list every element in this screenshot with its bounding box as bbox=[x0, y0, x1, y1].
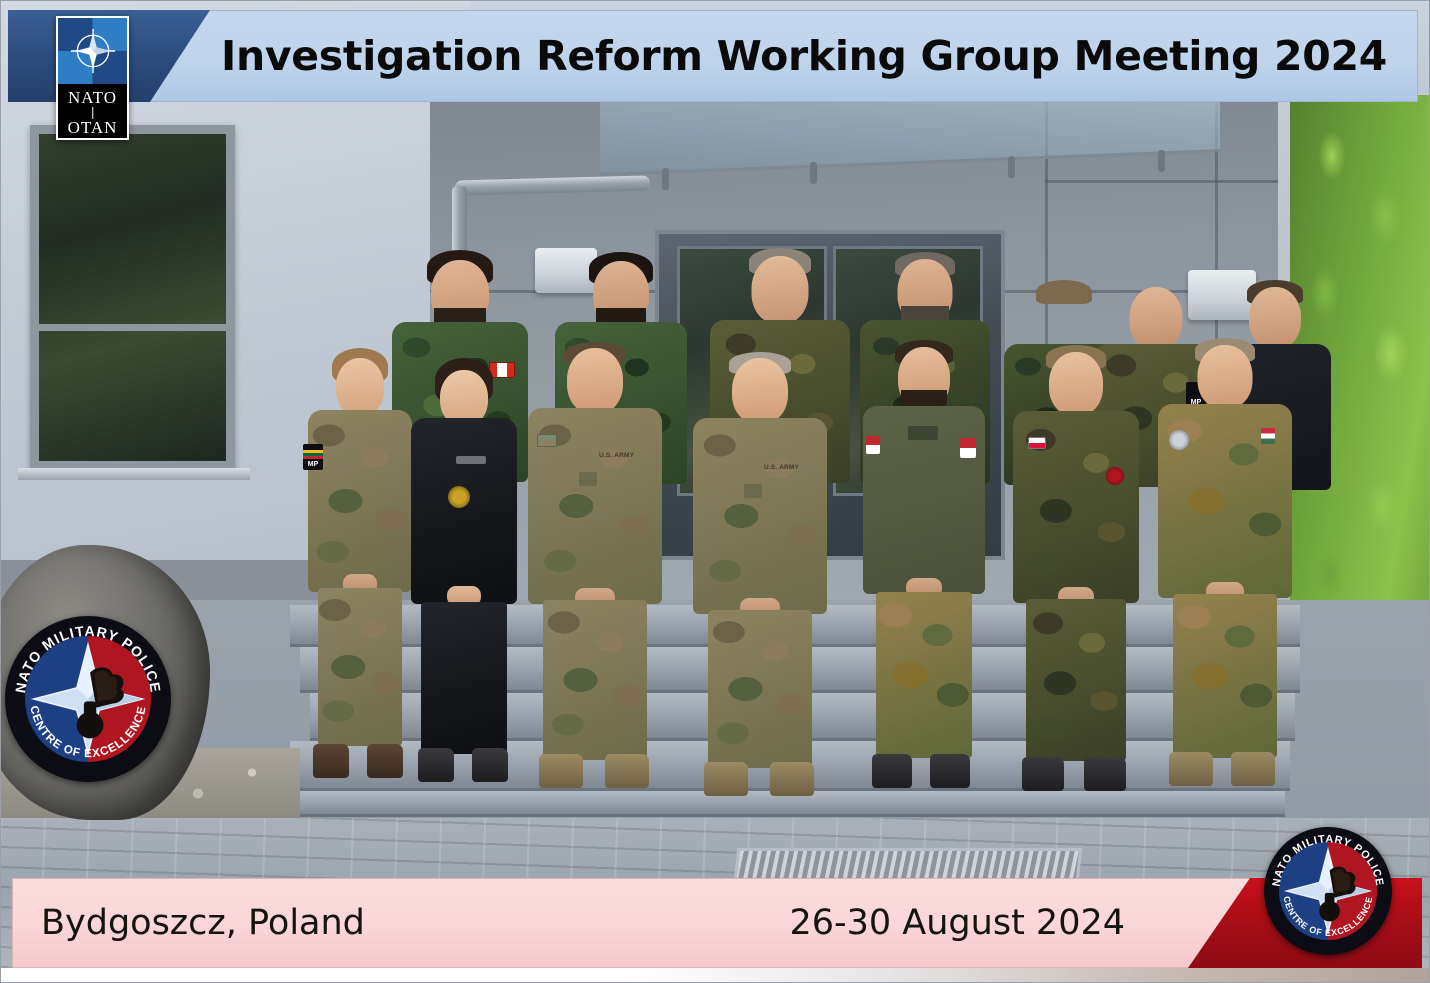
rank-insignia bbox=[744, 484, 762, 498]
nato-otan-emblem: NATO OTAN bbox=[56, 16, 129, 140]
canopy-bracket bbox=[1158, 150, 1165, 172]
svg-text:CENTRE OF EXCELLENCE: CENTRE OF EXCELLENCE bbox=[27, 705, 148, 761]
footer-banner: Bydgoszcz, Poland 26-30 August 2024 bbox=[12, 878, 1250, 968]
person-front-7 bbox=[1155, 338, 1295, 790]
unit-patch bbox=[1169, 430, 1189, 450]
crest-ring-text: NATO MILITARY POLICE CENTRE OF EXCELLENC… bbox=[1264, 827, 1392, 955]
service-tape: U.S. ARMY bbox=[599, 452, 634, 459]
group-photograph: MP MP bbox=[0, 0, 1430, 968]
person-front-5 bbox=[860, 340, 988, 790]
navy-nametape bbox=[456, 456, 486, 464]
person-front-3: U.S. ARMY bbox=[525, 342, 665, 787]
monument-nato-mp-coe-crest-icon: NATO MILITARY POLICE CENTRE OF EXCELLENC… bbox=[5, 616, 171, 782]
footer-nato-mp-coe-crest-icon: NATO MILITARY POLICE CENTRE OF EXCELLENC… bbox=[1264, 827, 1392, 955]
header-banner: Investigation Reform Working Group Meeti… bbox=[150, 10, 1418, 102]
svg-text:NATO MILITARY POLICE: NATO MILITARY POLICE bbox=[1270, 833, 1385, 887]
crest-ring-text: NATO MILITARY POLICE CENTRE OF EXCELLENC… bbox=[5, 616, 171, 782]
poland-flag-patch bbox=[1028, 437, 1046, 449]
footer-bottom-strip bbox=[0, 968, 1430, 983]
event-location: Bydgoszcz, Poland bbox=[41, 903, 365, 943]
rank-insignia bbox=[579, 472, 597, 486]
canopy-bracket bbox=[810, 162, 817, 184]
page-title: Investigation Reform Working Group Meeti… bbox=[181, 32, 1387, 80]
nato-flag-field bbox=[58, 18, 127, 84]
nation-flag-patch bbox=[960, 438, 976, 458]
mp-armband: MP bbox=[303, 444, 323, 470]
window-mullion bbox=[39, 324, 226, 331]
building-window bbox=[30, 125, 235, 470]
unit-patch bbox=[1106, 467, 1124, 485]
poster-root: MP MP bbox=[0, 0, 1430, 983]
chest-patch bbox=[908, 426, 938, 440]
window-sill bbox=[18, 468, 250, 480]
person-front-4: U.S. ARMY bbox=[690, 352, 830, 792]
canopy-bracket bbox=[662, 168, 669, 190]
event-dates: 26-30 August 2024 bbox=[789, 903, 1125, 943]
hungary-flag-patch bbox=[1261, 428, 1275, 444]
person-front-1: MP bbox=[305, 348, 415, 778]
us-flag-patch bbox=[537, 434, 557, 447]
nato-divider bbox=[58, 112, 127, 114]
svg-text:NATO MILITARY POLICE: NATO MILITARY POLICE bbox=[12, 623, 164, 694]
nato-compass-star-icon bbox=[70, 28, 116, 74]
person-front-6 bbox=[1010, 345, 1142, 790]
navy-rank-insignia bbox=[448, 486, 470, 508]
svg-text:CENTRE OF EXCELLENCE: CENTRE OF EXCELLENCE bbox=[1281, 895, 1374, 938]
service-tape: U.S. ARMY bbox=[764, 464, 799, 471]
nation-flag-patch bbox=[866, 436, 880, 454]
person-front-2 bbox=[408, 358, 520, 780]
canopy-bracket bbox=[1008, 156, 1015, 178]
downspout-pipe bbox=[452, 186, 467, 254]
